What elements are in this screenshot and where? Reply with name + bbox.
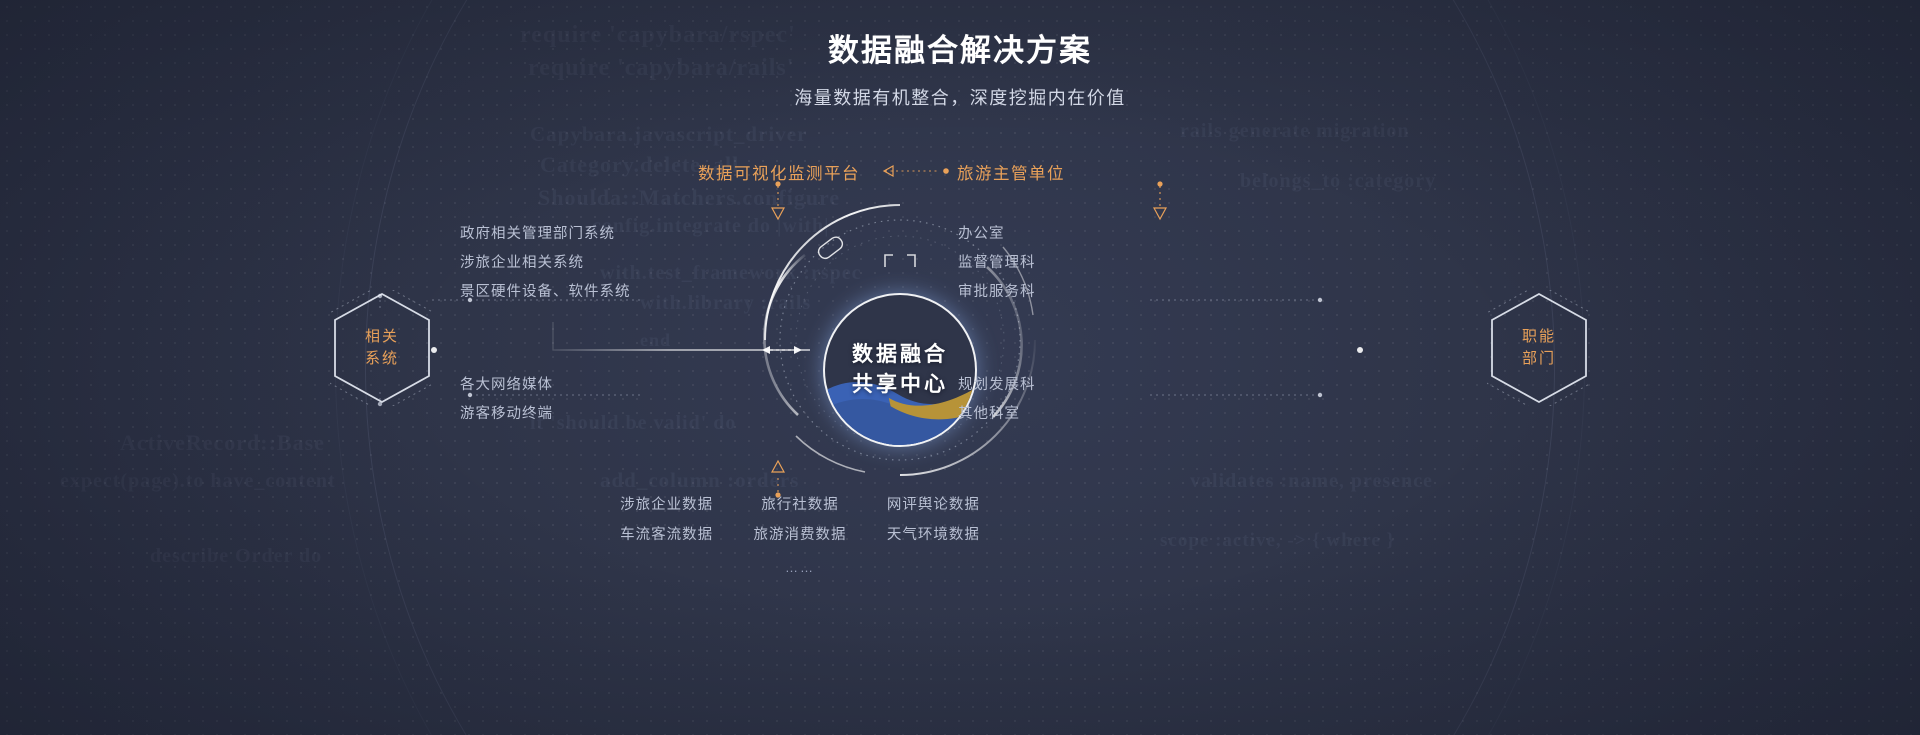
hexagon-right-line1: 职能: [1522, 326, 1556, 348]
header-block: 数据融合解决方案 海量数据有机整合，深度挖掘内在价值: [0, 28, 1920, 110]
sphere-liquid-fill: [825, 364, 975, 445]
left-upper-label-group: 政府相关管理部门系统涉旅企业相关系统景区硬件设备、软件系统: [460, 220, 631, 307]
background-code-line: belongs_to :category: [1240, 170, 1436, 193]
right-lower-label-group: 规划发展科其他科室: [958, 371, 1036, 429]
background-code-line: scope :active, -> { where }: [1160, 530, 1395, 552]
node-visualization-platform[interactable]: 数据可视化监测平台: [698, 160, 860, 184]
bottom-data-cell: 网评舆论数据: [867, 490, 1000, 520]
hexagon-left-line2: 系统: [365, 348, 399, 370]
left-lower-label-2: 游客移动终端: [460, 400, 553, 429]
left-upper-label-2: 涉旅企业相关系统: [460, 249, 631, 278]
background-code-line: validates :name, presence: [1190, 470, 1433, 493]
right-upper-label-3: 审批服务科: [958, 278, 1036, 307]
page-title: 数据融合解决方案: [0, 28, 1920, 74]
bottom-data-cell: 车流客流数据: [600, 520, 733, 550]
background-code-line: rails generate migration: [1180, 120, 1410, 143]
left-lower-label-1: 各大网络媒体: [460, 371, 553, 400]
bottom-data-row: 涉旅企业数据旅行社数据网评舆论数据: [600, 490, 1000, 520]
left-lower-label-group: 各大网络媒体游客移动终端: [460, 371, 553, 429]
hexagon-right-line2: 部门: [1522, 348, 1556, 370]
bottom-data-row: 车流客流数据旅游消费数据天气环境数据: [600, 520, 1000, 550]
bottom-data-sources: 涉旅企业数据旅行社数据网评舆论数据车流客流数据旅游消费数据天气环境数据 ……: [600, 490, 1000, 575]
background-code-line: it 'should be valid' do: [530, 412, 736, 435]
right-lower-label-1: 规划发展科: [958, 371, 1036, 400]
background-code-line: ActiveRecord::Base: [120, 430, 325, 456]
hexagon-left-text: 相关 系统: [330, 290, 434, 406]
hexagon-functional-departments[interactable]: 职能 部门: [1487, 290, 1591, 406]
background-code-line: describe Order do: [150, 545, 322, 568]
hexagon-right-text: 职能 部门: [1487, 290, 1591, 406]
right-upper-label-1: 办公室: [958, 220, 1036, 249]
background-code-line: expect(page).to have_content: [60, 470, 336, 493]
bottom-data-cell: 旅游消费数据: [733, 520, 866, 550]
left-upper-label-1: 政府相关管理部门系统: [460, 220, 631, 249]
left-upper-label-3: 景区硬件设备、软件系统: [460, 278, 631, 307]
right-lower-label-2: 其他科室: [958, 400, 1036, 429]
bottom-data-table: 涉旅企业数据旅行社数据网评舆论数据车流客流数据旅游消费数据天气环境数据: [600, 490, 1000, 550]
background-code-line: end: [640, 330, 671, 351]
right-upper-label-group: 办公室监督管理科审批服务科: [958, 220, 1036, 307]
hexagon-related-systems[interactable]: 相关 系统: [330, 290, 434, 406]
page-subtitle: 海量数据有机整合，深度挖掘内在价值: [0, 84, 1920, 110]
bottom-data-cell: 天气环境数据: [867, 520, 1000, 550]
right-upper-label-2: 监督管理科: [958, 249, 1036, 278]
bottom-data-cell: 涉旅企业数据: [600, 490, 733, 520]
background-code-line: Capybara.javascript_driver: [530, 122, 807, 147]
diagram-canvas: require 'capybara/rspec'require 'capybar…: [0, 0, 1920, 735]
bottom-data-ellipsis: ……: [600, 550, 1000, 575]
data-sphere: [825, 295, 975, 445]
hexagon-left-line1: 相关: [365, 326, 399, 348]
node-tourism-authority[interactable]: 旅游主管单位: [957, 160, 1065, 184]
bottom-data-cell: 旅行社数据: [733, 490, 866, 520]
